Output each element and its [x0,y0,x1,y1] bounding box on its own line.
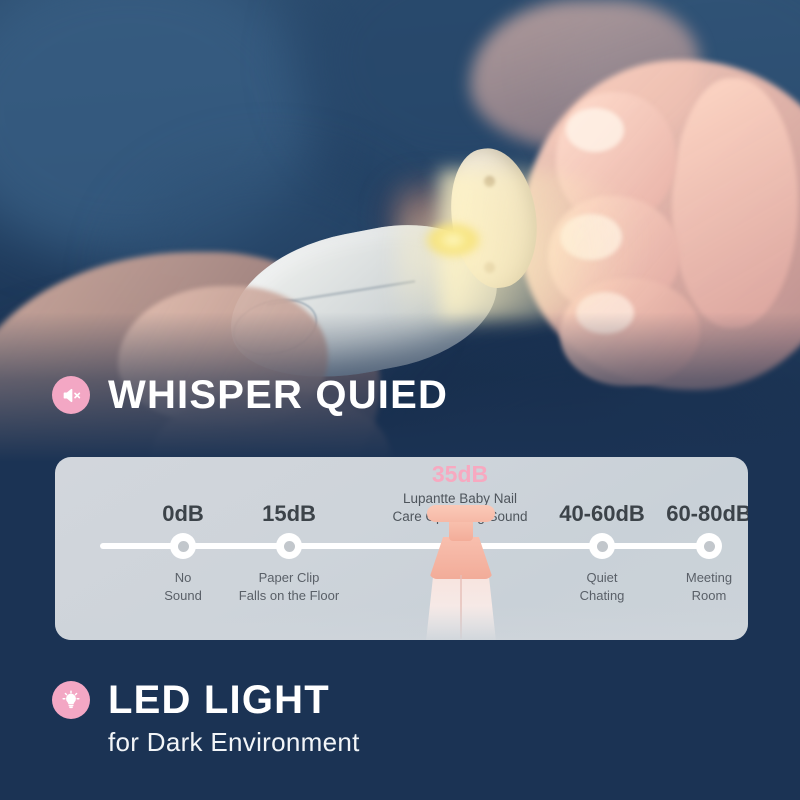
lightbulb-icon [52,681,90,719]
scale-caption-15db: Paper Clip Falls on the Floor [239,569,339,604]
feature-led-light: LED LIGHT [52,680,330,720]
scale-caption-0db: No Sound [164,569,202,604]
scale-value-40-60db: 40-60dB [559,501,645,527]
scale-marker [589,533,615,559]
scale-caption-line: No [164,569,202,587]
product-shoulder [429,537,493,579]
scale-caption-line: Chating [580,587,625,605]
decibel-scale-panel: 0dB 15dB 40-60dB 60-80dB No Sound Paper … [55,457,748,640]
baby-finger [672,78,798,328]
panel-bottom-fade [55,606,748,640]
scale-caption-line: Meeting [686,569,732,587]
product-cap [427,505,495,522]
feature-subtitle-led: for Dark Environment [108,727,360,758]
scale-caption-40-60db: Quiet Chating [580,569,625,604]
scale-value-0db: 0dB [162,501,204,527]
feature-title-whisper: WHISPER QUIED [108,375,448,415]
scale-value-60-80db: 60-80dB [666,501,748,527]
scale-caption-line: Sound [164,587,202,605]
feature-title-led: LED LIGHT [108,680,330,720]
scale-marker [170,533,196,559]
scale-marker [276,533,302,559]
scale-marker [696,533,722,559]
scale-caption-line: Falls on the Floor [239,587,339,605]
scale-caption-line: Paper Clip [239,569,339,587]
led-light-source [424,222,482,258]
scale-value-15db: 15dB [262,501,316,527]
scale-highlight-value: 35dB [432,461,488,488]
feature-whisper-quiet: WHISPER QUIED [52,375,448,415]
baby-fingernail [566,108,624,152]
scale-caption-line: Room [686,587,732,605]
scale-caption-line: Quiet [580,569,625,587]
product-neck [449,519,473,541]
speaker-mute-icon [52,376,90,414]
scale-caption-60-80db: Meeting Room [686,569,732,604]
